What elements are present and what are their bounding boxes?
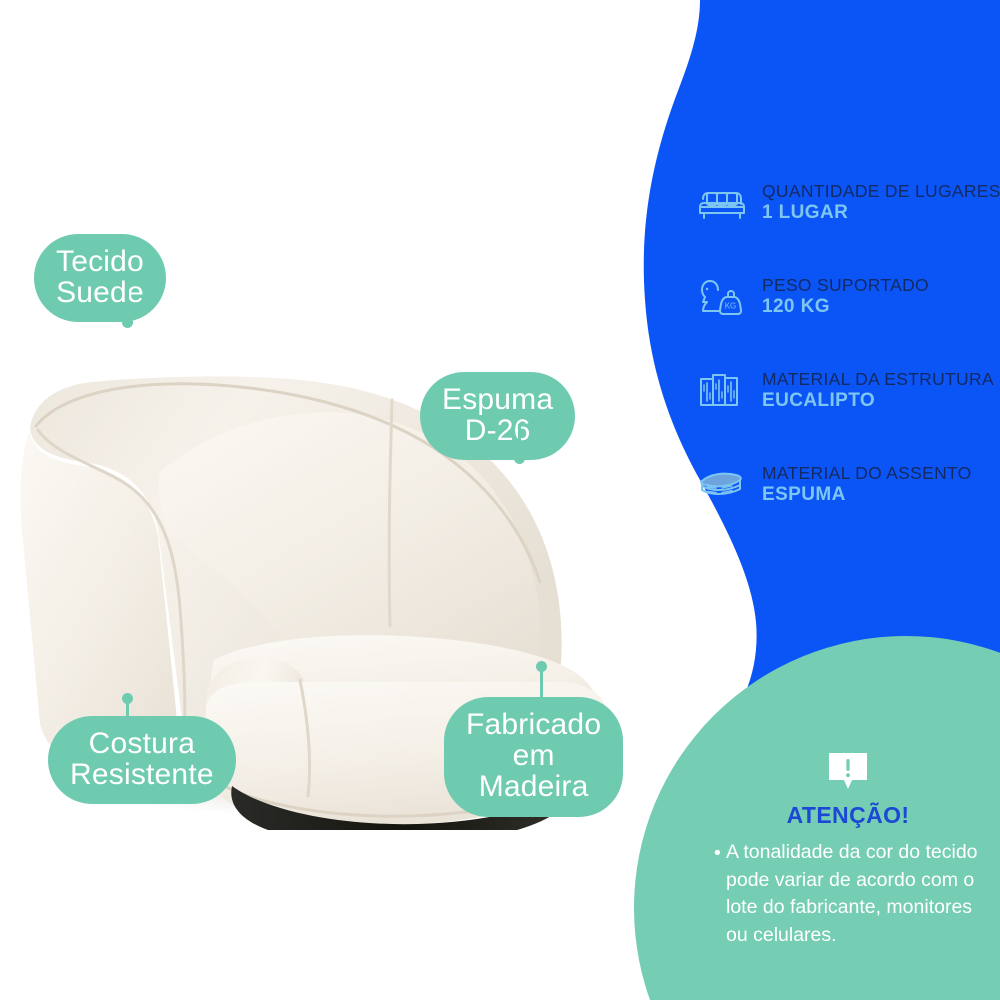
infographic-canvas: Tecido Suede Espuma D-26 Costura Resiste… [0,0,1000,1000]
specification-list: QUANTIDADE DE LUGARES 1 LUGAR KG PESO SU… [696,170,996,546]
spec-row-material-da-estrutura: MATERIAL DA ESTRUTURA EUCALIPTO [696,358,996,424]
spec-text: MATERIAL DO ASSENTO ESPUMA [762,463,972,507]
callout-pill-label[interactable]: Espuma D-26 [420,372,575,460]
spec-label: QUANTIDADE DE LUGARES [762,181,1000,202]
spec-value: 120 KG [762,295,929,319]
foam-layers-icon [696,459,748,511]
spec-row-peso-suportado: KG PESO SUPORTADO 120 KG [696,264,996,330]
callout-pill-label[interactable]: Tecido Suede [34,234,166,322]
svg-text:KG: KG [725,302,737,311]
sofa-icon [696,177,748,229]
attention-title: ATENÇÃO! [700,802,996,829]
spec-value: ESPUMA [762,483,972,507]
attention-body: • A tonalidade da cor do tecido pode var… [700,839,996,950]
spec-label: MATERIAL DA ESTRUTURA [762,369,994,390]
spec-value: 1 LUGAR [762,201,1000,225]
spec-label: MATERIAL DO ASSENTO [762,463,972,484]
spec-text: MATERIAL DA ESTRUTURA EUCALIPTO [762,369,994,413]
spec-label: PESO SUPORTADO [762,275,929,296]
callout-leader-dot [536,661,547,672]
callout-pill-label[interactable]: Fabricado em Madeira [444,697,623,817]
callout-leader-dot [122,693,133,704]
spec-row-material-do-assento: MATERIAL DO ASSENTO ESPUMA [696,452,996,518]
weight-person-icon: KG [696,271,748,323]
spec-text: QUANTIDADE DE LUGARES 1 LUGAR [762,181,1000,225]
spec-row-quantidade-de-lugares: QUANTIDADE DE LUGARES 1 LUGAR [696,170,996,236]
exclamation-bubble-icon [825,748,871,794]
attention-block: ATENÇÃO! • A tonalidade da cor do tecido… [700,748,996,950]
callout-pill-label[interactable]: Costura Resistente [48,716,236,804]
spec-value: EUCALIPTO [762,389,994,413]
callout-leader-line [540,669,543,705]
callout-leader-dot [514,453,525,464]
attention-body-text: A tonalidade da cor do tecido pode varia… [726,841,978,946]
callout-leader-dot [122,317,133,328]
spec-text: PESO SUPORTADO 120 KG [762,275,929,319]
wood-planks-icon [696,365,748,417]
attention-bullet: • [714,840,721,868]
